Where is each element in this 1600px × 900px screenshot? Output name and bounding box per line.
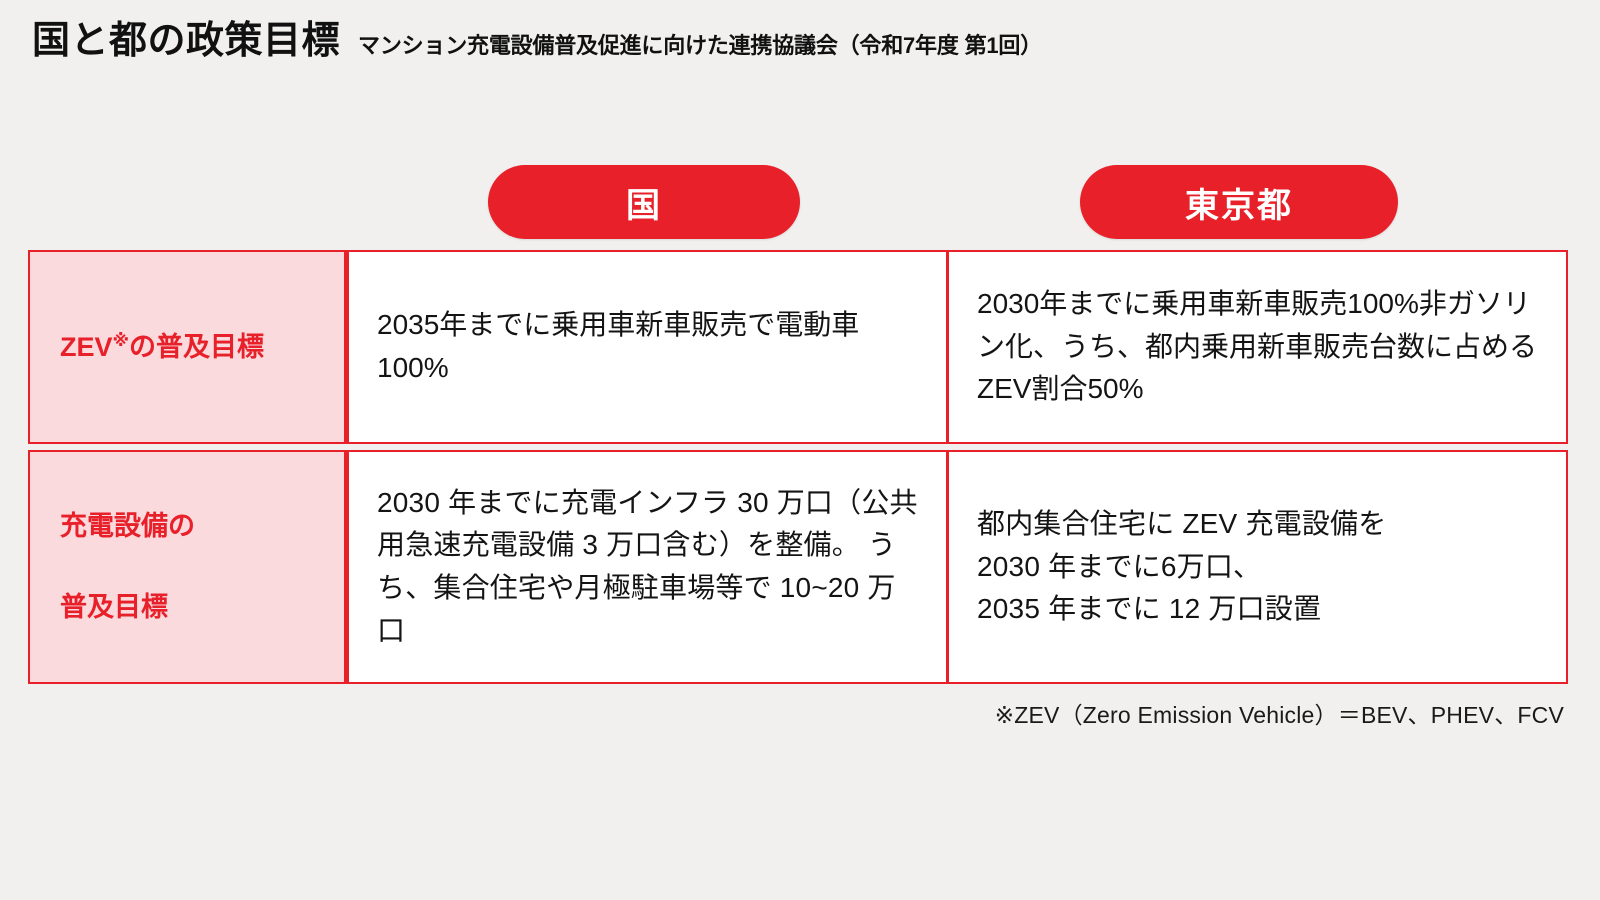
- cell-country-charging: 2030 年までに充電インフラ 30 万口（公共用急速充電設備 3 万口含む）を…: [346, 452, 946, 682]
- row-label-zev-rest: の普及目標: [129, 332, 264, 362]
- cell-country-charging-text: 2030 年までに充電インフラ 30 万口（公共用急速充電設備 3 万口含む）を…: [377, 482, 922, 652]
- table-row: ZEV※の普及目標 2035年までに乗用車新車販売で電動車100% 2030年ま…: [28, 252, 1568, 442]
- table-row: 充電設備の 普及目標 2030 年までに充電インフラ 30 万口（公共用急速充電…: [28, 452, 1568, 682]
- row-label-charging-main: 充電設備の: [60, 511, 195, 541]
- page-subtitle: マンション充電設備普及促進に向けた連携協議会（令和7年度 第1回）: [358, 35, 1042, 57]
- cell-country-zev: 2035年までに乗用車新車販売で電動車100%: [346, 252, 946, 442]
- column-header-pills: 国 東京都: [0, 165, 1600, 239]
- row-label-charging: 充電設備の 普及目標: [28, 452, 346, 682]
- cell-tokyo-zev-text: 2030年までに乗用車新車販売100%非ガソリン化、うち、都内乗用新車販売台数に…: [977, 283, 1542, 411]
- cell-tokyo-zev: 2030年までに乗用車新車販売100%非ガソリン化、うち、都内乗用新車販売台数に…: [946, 252, 1568, 442]
- policy-goals-table: ZEV※の普及目標 2035年までに乗用車新車販売で電動車100% 2030年ま…: [28, 250, 1568, 684]
- column-header-country: 国: [488, 165, 800, 239]
- reference-mark-icon: ※: [113, 331, 130, 350]
- row-label-zev: ZEV※の普及目標: [28, 252, 346, 442]
- footnote-zev-definition: ※ZEV（Zero Emission Vehicle）＝BEV、PHEV、FCV: [995, 696, 1564, 730]
- slide-root: 国と都の政策目標 マンション充電設備普及促進に向けた連携協議会（令和7年度 第1…: [0, 0, 1600, 900]
- cell-tokyo-charging-text: 都内集合住宅に ZEV 充電設備を 2030 年までに6万口、 2035 年まで…: [977, 503, 1386, 631]
- cell-tokyo-charging: 都内集合住宅に ZEV 充電設備を 2030 年までに6万口、 2035 年まで…: [946, 452, 1568, 682]
- cell-country-zev-text: 2035年までに乗用車新車販売で電動車100%: [377, 304, 922, 389]
- page-title: 国と都の政策目標: [32, 22, 340, 60]
- row-label-zev-main: ZEV: [60, 332, 113, 362]
- row-label-charging-rest: 普及目標: [60, 547, 195, 628]
- slide-header: 国と都の政策目標 マンション充電設備普及促進に向けた連携協議会（令和7年度 第1…: [32, 22, 1042, 60]
- table-bottom-rule: [28, 682, 1568, 684]
- column-header-tokyo: 東京都: [1080, 165, 1398, 239]
